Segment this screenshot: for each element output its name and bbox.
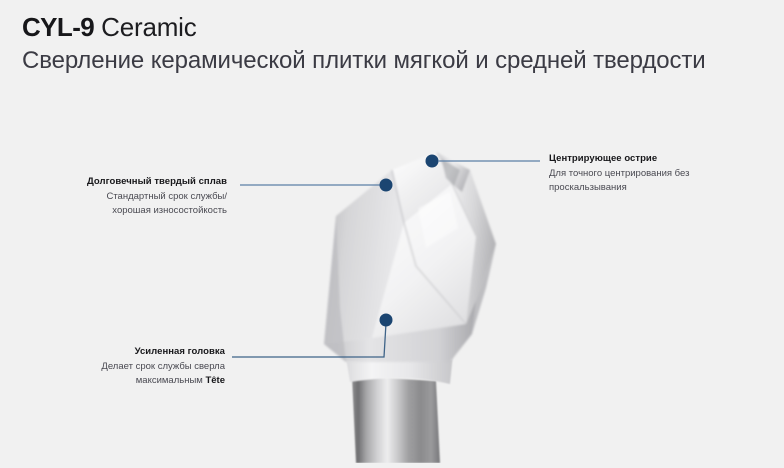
page-title: CYL-9 Ceramic [22,12,762,42]
drill-shaft [352,376,440,463]
callout-centering-tip-title: Центрирующее острие [549,152,764,165]
drill-head [324,152,496,362]
callout-hard-alloy-body: Стандартный срок службы/ хорошая износос… [20,190,227,218]
product-family: Ceramic [94,12,196,42]
callout-centering-tip-body-line2: проскальзывания [549,182,627,193]
callout-reinforced-head-body: Делает срок службы сверла максимальным T… [20,360,225,388]
callout-hard-alloy-body-line1: Стандартный срок службы/ [106,191,227,202]
page-header: CYL-9 Ceramic Сверление керамической пли… [22,12,762,75]
callout-centering-tip: Центрирующее острие Для точного центриро… [549,152,764,195]
product-code: CYL-9 [22,12,94,42]
callout-reinforced-head-body-line1: Делает срок службы сверла [101,361,225,372]
callout-hard-alloy-body-line2: хорошая износостойкость [112,205,227,216]
callout-hard-alloy-title: Долговечный твердый сплав [20,175,227,188]
callout-reinforced-head: Усиленная головка Делает срок службы све… [20,345,225,388]
callout-centering-tip-body: Для точного центрирования без проскальзы… [549,167,764,195]
poster-canvas: CYL-9 Ceramic Сверление керамической пли… [0,0,784,463]
callout-centering-tip-body-line1: Для точного центрирования без [549,168,689,179]
ceramic-drill-bit-illustration [300,148,530,463]
callout-reinforced-head-body-line2: максимальным [136,375,206,386]
callout-reinforced-head-emphasis: Tête [205,375,225,386]
callout-reinforced-head-title: Усиленная головка [20,345,225,358]
callout-hard-alloy: Долговечный твердый сплав Стандартный ср… [20,175,227,218]
page-subtitle: Сверление керамической плитки мягкой и с… [22,46,762,75]
